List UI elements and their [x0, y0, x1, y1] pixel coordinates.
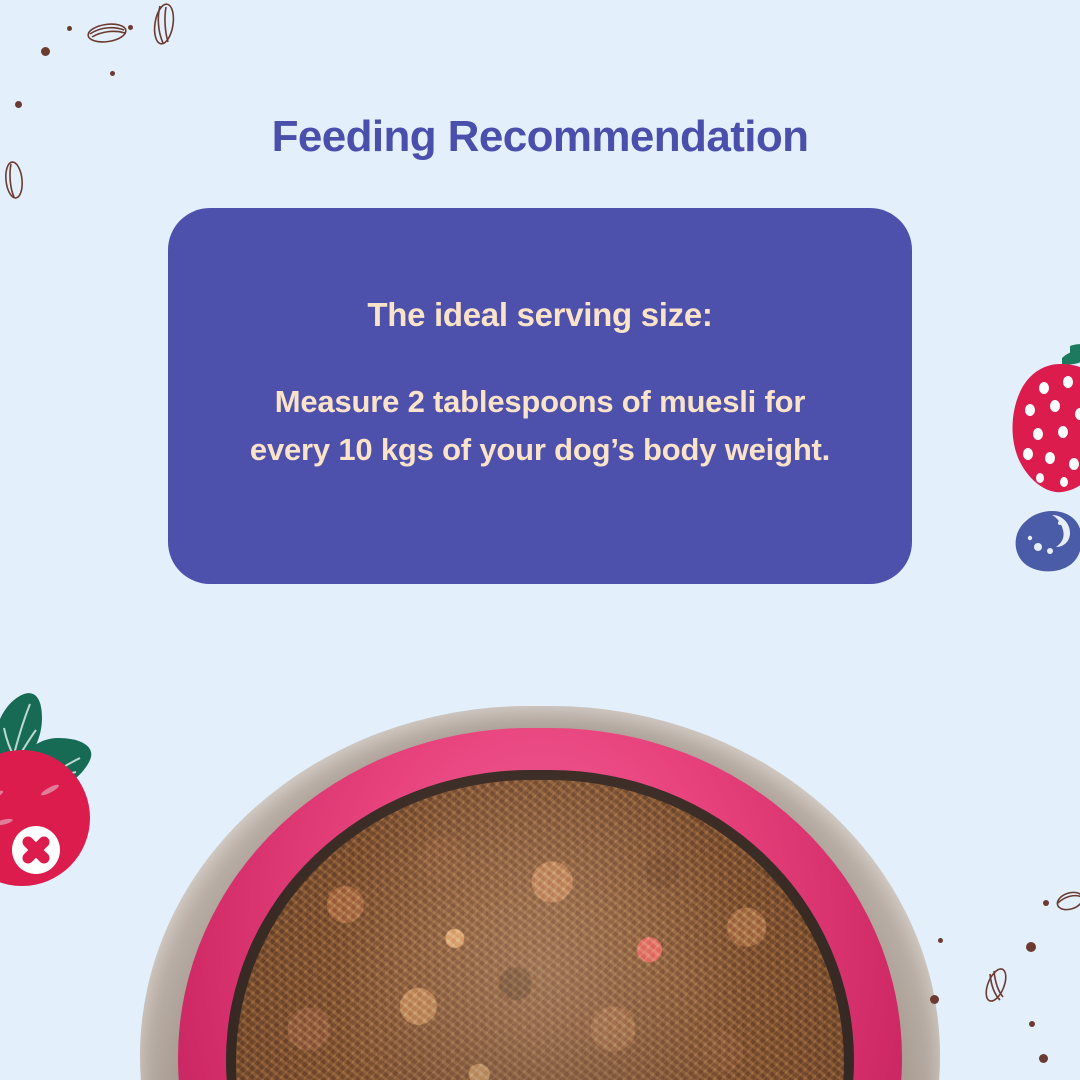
- scatter-dot: [1029, 1021, 1035, 1027]
- oat-flake-icon: [2, 160, 26, 200]
- scatter-dot: [41, 47, 50, 56]
- oat-flake-icon: [86, 20, 128, 46]
- cranberry-icon: [0, 672, 146, 887]
- card-body-line-1: Measure 2 tablespoons of muesli for: [275, 384, 805, 419]
- card-body: Measure 2 tablespoons of muesli for ever…: [192, 378, 888, 474]
- scatter-dot: [110, 71, 115, 76]
- scatter-dot: [128, 25, 133, 30]
- dog-food-bowl-photo: [140, 706, 940, 1080]
- scatter-dot: [1043, 900, 1049, 906]
- feeding-recommendation-page: Feeding Recommendation The ideal serving…: [0, 0, 1080, 1080]
- bowl-food: [236, 780, 844, 1080]
- scatter-dot: [930, 995, 939, 1004]
- oat-flake-icon: [1055, 888, 1080, 914]
- scatter-dot: [1039, 1054, 1048, 1063]
- scatter-dot: [67, 26, 72, 31]
- serving-size-card: The ideal serving size: Measure 2 tables…: [168, 208, 912, 584]
- scatter-dot: [15, 101, 22, 108]
- card-body-line-2: every 10 kgs of your dog’s body weight.: [250, 432, 830, 467]
- card-heading: The ideal serving size:: [168, 296, 912, 334]
- scatter-dot: [1026, 942, 1036, 952]
- page-title: Feeding Recommendation: [0, 112, 1080, 162]
- bowl-food-shading: [236, 780, 844, 1080]
- scatter-dot: [938, 938, 943, 943]
- oat-flake-icon: [150, 2, 178, 46]
- strawberry-icon: [1000, 340, 1080, 515]
- oat-flake-icon: [983, 966, 1009, 1004]
- blueberry-icon: [1008, 505, 1080, 577]
